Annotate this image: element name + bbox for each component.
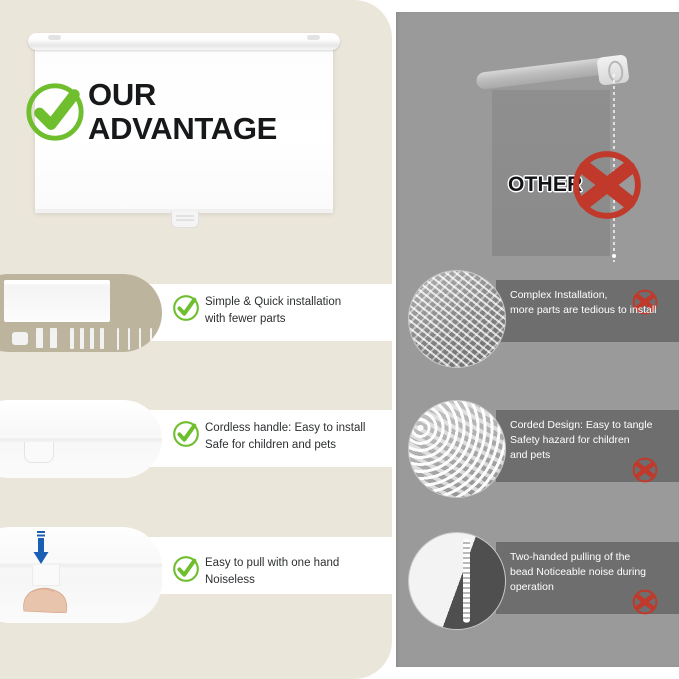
blind-headrail [28,33,340,50]
red-x-circle-icon [569,147,645,223]
blind-cordless-handle [171,211,199,228]
hero-product-image-other [396,12,679,270]
advantage-row-1-thumb [0,274,162,352]
other-row-2-text: Corded Design: Easy to tangle Safety haz… [510,418,676,463]
other-row-3-thumb [408,532,506,630]
bracket-part [12,332,28,345]
screw-part [139,328,141,350]
advantage-row-2-text: Cordless handle: Easy to install Safe fo… [205,420,390,453]
screw-part [128,328,130,350]
screw-part [100,328,104,349]
page-title: OUR ADVANTAGE [88,78,277,146]
screw-part [50,328,57,348]
green-check-circle-icon [172,294,200,322]
green-check-circle-icon [172,420,200,448]
hand-graphic [18,575,72,613]
advantage-row-1-text: Simple & Quick installation with fewer p… [205,294,390,327]
screw-part [80,328,84,349]
advantage-row-3-thumb [0,527,162,623]
comparison-infographic: OUR ADVANTAGE [0,0,679,679]
other-badge: OTHER [508,147,645,223]
other-row-1-thumb [408,270,506,368]
mini-blind [4,280,110,322]
cordless-handle-closeup-photo [0,400,162,478]
green-check-circle-icon [172,555,200,583]
our-advantage-badge: OUR ADVANTAGE [24,78,277,146]
screw-part [117,328,119,350]
other-panel: OTHER Complex Installation, more parts a… [396,12,679,667]
rail-bracket-left [48,35,61,40]
screw-part [150,328,152,350]
advantage-row-2-thumb [0,400,162,478]
green-check-circle-icon [24,81,86,143]
advantage-row-3-text: Easy to pull with one hand Noiseless [205,555,390,588]
down-arrow-icon [32,531,50,565]
screw-part [70,328,74,349]
tangled-bead-chain-photo [409,401,505,497]
blind-with-few-screws-photo [0,274,162,352]
other-row-3-text: Two-handed pulling of the bead Noticeabl… [510,550,676,595]
other-row-2-thumb [408,400,506,498]
other-row-1-text: Complex Installation, more parts are ted… [510,288,676,318]
advantage-panel: OUR ADVANTAGE [0,0,392,679]
screw-part [90,328,94,349]
screw-part [36,328,43,348]
blind-bottom-rail [0,561,162,569]
cordless-handle [24,442,54,463]
many-installation-parts-photo [409,271,505,367]
rail-bracket-right [307,35,320,40]
hand-pulling-blind-photo [0,527,162,623]
bead-chain-pull-photo [409,533,505,629]
